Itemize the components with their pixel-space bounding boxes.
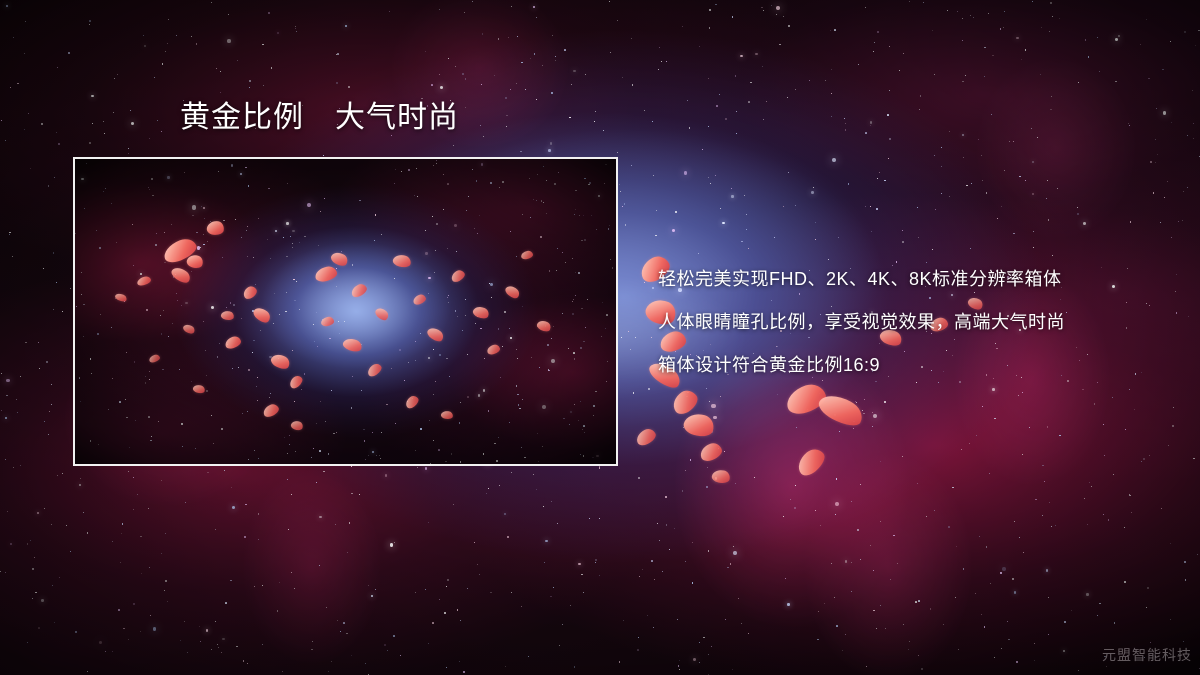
presentation-slide: 黄金比例 大气时尚 轻松完美实现FHD、2K、4K、8K标准分辨率箱体 人体眼睛… [0, 0, 1200, 675]
body-line-1: 轻松完美实现FHD、2K、4K、8K标准分辨率箱体 [658, 258, 1178, 301]
watermark: 元盟智能科技 [1102, 645, 1192, 665]
body-line-3: 箱体设计符合黄金比例16:9 [658, 344, 1178, 387]
panel-vignette [75, 159, 616, 464]
page-title: 黄金比例 大气时尚 [180, 103, 459, 133]
picture-frame [73, 157, 618, 466]
body-text-block: 轻松完美实现FHD、2K、4K、8K标准分辨率箱体 人体眼睛瞳孔比例，享受视觉效… [658, 258, 1178, 387]
body-line-2: 人体眼睛瞳孔比例，享受视觉效果，高端大气时尚 [658, 301, 1178, 344]
